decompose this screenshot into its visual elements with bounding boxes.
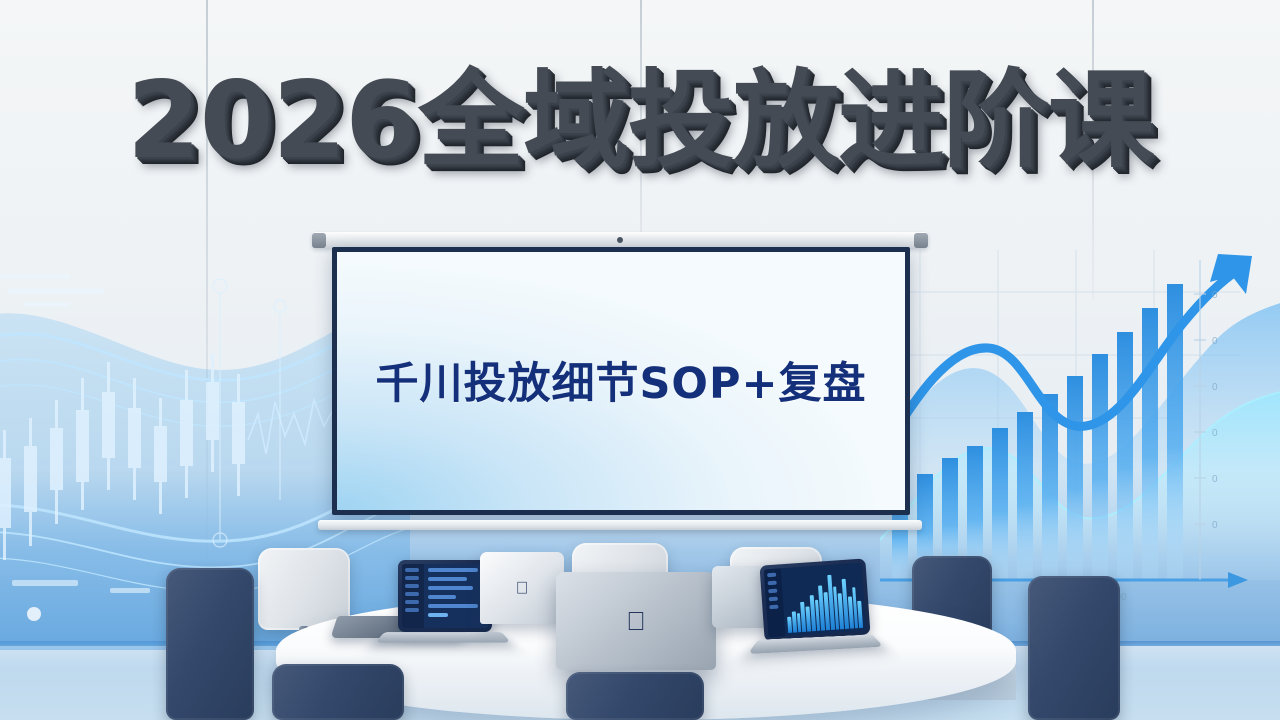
apple-logo-icon:  <box>626 608 646 634</box>
laptop-open-left-keyboard <box>375 632 512 642</box>
dashboard-content <box>424 564 488 628</box>
sidebar-row <box>768 581 777 586</box>
roller-cap-left <box>312 233 326 248</box>
screen-frame: 千川投放细节SOP+复盘 <box>332 247 910 515</box>
chair-backrest <box>166 568 254 720</box>
screen-bottom-bar <box>318 520 922 530</box>
chair-front-right-dark <box>566 672 704 720</box>
chair-front-left-dark <box>272 664 404 720</box>
page-title: 2026全域投放进阶课 <box>0 68 1280 174</box>
dashboard-sidebar <box>402 564 424 628</box>
sidebar-row <box>769 597 778 602</box>
content-row <box>428 604 478 608</box>
screen-headline: 千川投放细节SOP+复盘 <box>337 349 905 411</box>
content-row <box>428 595 456 599</box>
roller-cap-right <box>914 233 928 248</box>
chair-backrest <box>1028 576 1120 720</box>
laptop-open-right <box>759 558 870 641</box>
svg-text:0: 0 <box>1212 520 1218 531</box>
svg-text:0: 0 <box>1212 382 1218 393</box>
laptop-display <box>759 558 870 641</box>
poster-canvas: 0 0 0 0 0 0 100 150 200 千川投放细节SOP+复盘 <box>0 0 1280 720</box>
sidebar-row <box>405 608 419 612</box>
laptop-bar-chart <box>781 563 866 636</box>
laptop-silver-back:  <box>480 552 564 624</box>
laptop-open-left <box>398 560 492 632</box>
sidebar-row <box>405 592 419 596</box>
projection-screen: 千川投放细节SOP+复盘 <box>306 232 934 532</box>
content-row <box>428 577 467 581</box>
chair-backrest <box>566 672 704 720</box>
screen-surface: 千川投放细节SOP+复盘 <box>337 252 905 510</box>
content-row <box>428 568 478 572</box>
laptop-center-macbook:  <box>556 572 716 670</box>
content-row-highlight <box>428 613 447 617</box>
sidebar-row <box>405 600 419 604</box>
chair-far-left-dark <box>166 568 254 720</box>
sidebar-row <box>768 589 777 594</box>
roller-center-dot <box>617 237 623 243</box>
svg-text:0: 0 <box>1212 336 1218 347</box>
sidebar-row <box>767 573 776 578</box>
laptop-display <box>398 560 492 632</box>
svg-text:0: 0 <box>1212 474 1218 485</box>
sidebar-row <box>405 568 419 572</box>
chart-dashboard-ui <box>764 563 867 638</box>
sidebar-row <box>769 605 778 610</box>
sidebar-row <box>405 576 419 580</box>
content-row <box>428 586 473 590</box>
chair-far-right-dark <box>1028 576 1120 720</box>
chair-backrest <box>272 664 404 720</box>
sidebar-row <box>405 584 419 588</box>
screen-roller-bar <box>312 232 928 248</box>
svg-text:0: 0 <box>1212 290 1218 301</box>
svg-text:0: 0 <box>1212 428 1218 439</box>
apple-logo-icon:  <box>516 580 529 597</box>
dashboard-ui <box>402 564 488 628</box>
